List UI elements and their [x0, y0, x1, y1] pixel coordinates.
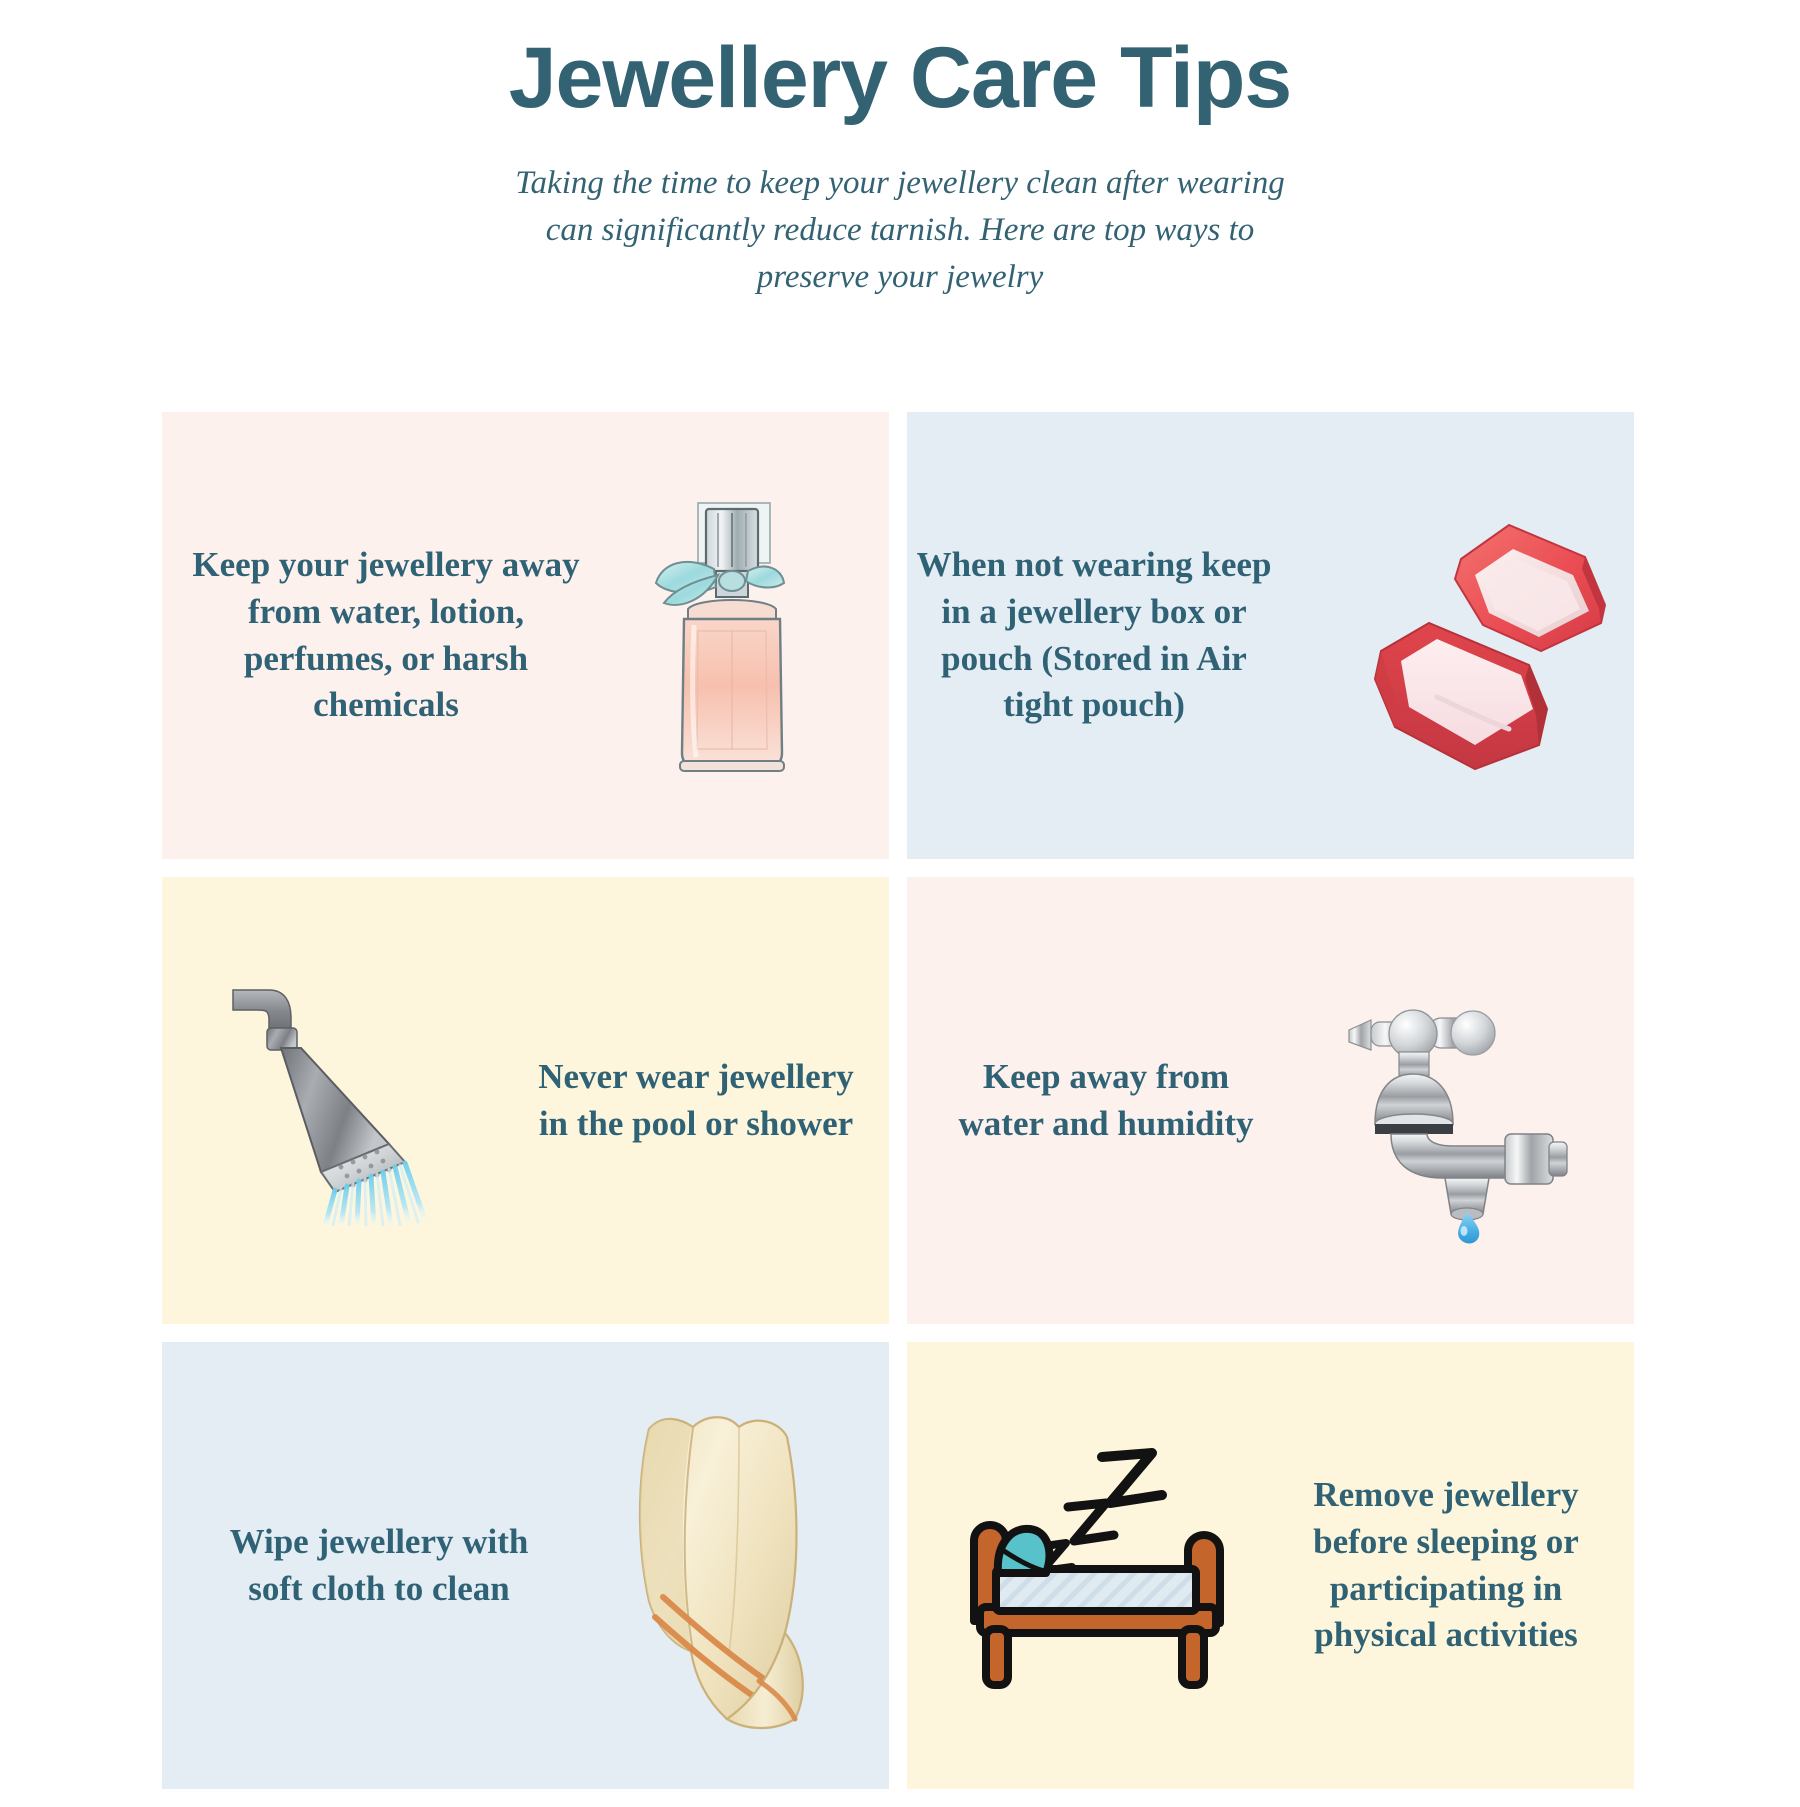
tip-text: Never wear jewellery in the pool or show…: [529, 1054, 863, 1147]
polishing-cloth-illustration: [603, 1401, 833, 1731]
tip-text: Keep away from water and humidity: [945, 1054, 1267, 1147]
tip-card-cloth[interactable]: Wipe jewellery with soft cloth to clean: [162, 1342, 907, 1807]
tip-card-bed[interactable]: Remove jewellery before sleeping or part…: [907, 1342, 1652, 1807]
perfume-bottle-illustration: [606, 491, 856, 781]
tip-illustration-container: [1267, 956, 1634, 1246]
header: Jewellery Care Tips Taking the time to k…: [0, 0, 1800, 301]
bed-sleeping-illustration: [956, 1431, 1246, 1701]
tip-text: Wipe jewellery with soft cloth to clean: [206, 1519, 552, 1612]
infographic-page: Jewellery Care Tips Taking the time to k…: [0, 0, 1800, 1800]
tip-text-container: When not wearing keep in a jewellery box…: [907, 542, 1307, 728]
tips-grid: Keep your jewellery away from water, lot…: [162, 412, 1640, 1807]
tip-illustration-container: [582, 491, 889, 781]
tip-text-container: Wipe jewellery with soft cloth to clean: [162, 1519, 552, 1612]
tip-illustration-container: [1307, 501, 1634, 771]
tip-card-shower[interactable]: Never wear jewellery in the pool or show…: [162, 877, 907, 1342]
faucet-illustration: [1313, 956, 1583, 1246]
tip-card-jewellery-box[interactable]: When not wearing keep in a jewellery box…: [907, 412, 1652, 877]
tip-text: When not wearing keep in a jewellery box…: [907, 542, 1281, 728]
tip-illustration-container: [162, 976, 529, 1226]
tip-card-perfume[interactable]: Keep your jewellery away from water, lot…: [162, 412, 907, 877]
tip-card-faucet[interactable]: Keep away from water and humidity: [907, 877, 1652, 1342]
tip-text: Keep your jewellery away from water, lot…: [190, 542, 582, 728]
shower-head-illustration: [229, 976, 479, 1226]
page-subtitle: Taking the time to keep your jewellery c…: [500, 160, 1300, 301]
tip-text-container: Never wear jewellery in the pool or show…: [529, 1054, 889, 1147]
jewellery-box-illustration: [1333, 501, 1613, 771]
page-title: Jewellery Care Tips: [0, 30, 1800, 126]
tip-text: Remove jewellery before sleeping or part…: [1284, 1472, 1608, 1658]
tip-text-container: Keep your jewellery away from water, lot…: [162, 542, 582, 728]
tip-text-container: Keep away from water and humidity: [907, 1054, 1267, 1147]
tip-illustration-container: [907, 1431, 1284, 1701]
tip-text-container: Remove jewellery before sleeping or part…: [1284, 1472, 1634, 1658]
tip-illustration-container: [552, 1401, 889, 1731]
